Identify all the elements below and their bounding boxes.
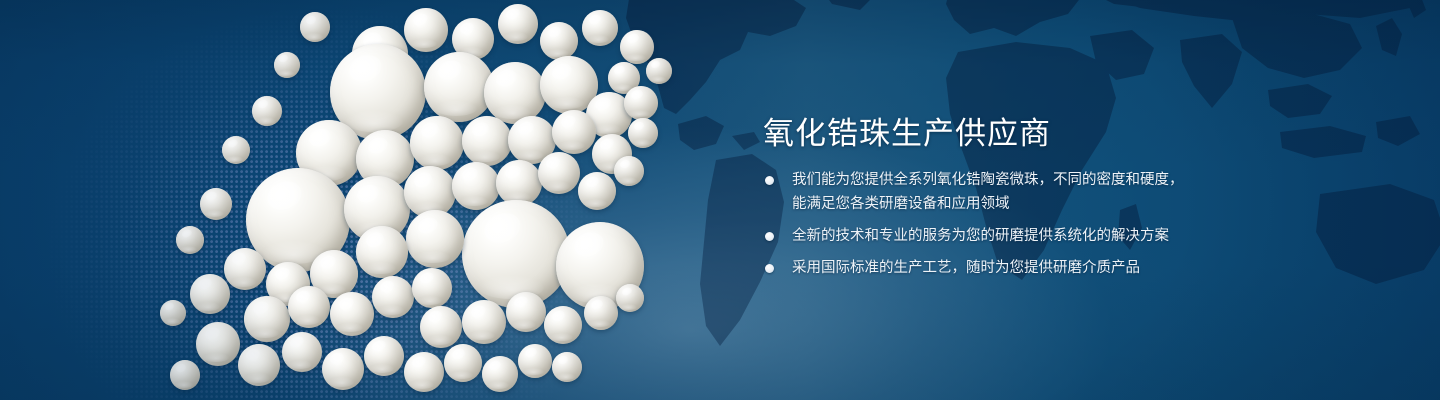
background-vignette (0, 0, 1440, 400)
hero-banner: 氧化锆珠生产供应商 我们能为您提供全系列氧化锆陶瓷微珠，不同的密度和硬度， 能满… (0, 0, 1440, 400)
